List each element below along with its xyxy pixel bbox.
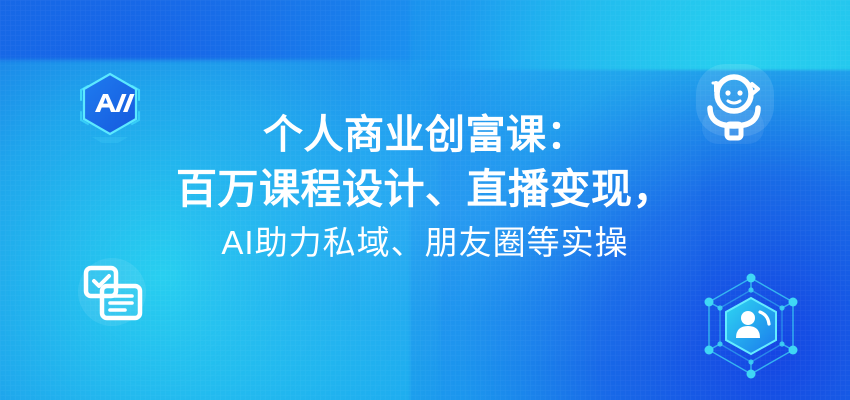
user-hexagon-network-icon <box>692 268 810 386</box>
headline-line-3: AI助力私域、朋友圈等实操 <box>20 224 830 263</box>
headline-line-1: 个人商业创富课： <box>20 112 830 159</box>
course-promo-banner: 个人商业创富课： 百万课程设计、直播变现， AI助力私域、朋友圈等实操 <box>0 0 850 400</box>
headline-block: 个人商业创富课： 百万课程设计、直播变现， AI助力私域、朋友圈等实操 <box>0 112 850 263</box>
headline-line-2: 百万课程设计、直播变现， <box>20 165 830 213</box>
